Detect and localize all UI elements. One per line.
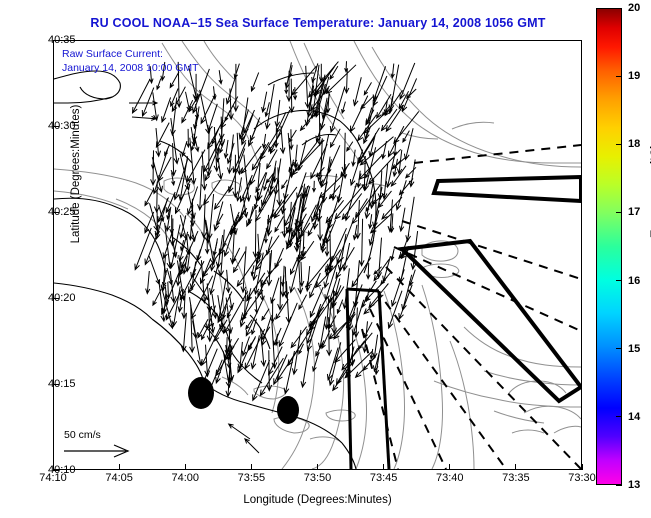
current-vector: [353, 77, 361, 105]
y-tick-mark: [53, 126, 59, 127]
current-vector: [132, 116, 156, 120]
station-marker[interactable]: [277, 396, 299, 424]
current-vector: [170, 72, 179, 88]
current-vector: [289, 130, 297, 142]
current-vector: [306, 257, 330, 287]
x-tick-mark: [582, 464, 583, 470]
y-tick-mark: [53, 470, 59, 471]
current-vector: [393, 157, 407, 169]
current-vector: [129, 101, 157, 105]
x-tick-label: 73:50: [304, 472, 332, 484]
x-tick-mark: [119, 464, 120, 470]
y-tick-mark: [53, 298, 59, 299]
x-tick-label: 74:05: [105, 472, 133, 484]
current-vector: [146, 271, 150, 294]
current-vector: [337, 300, 342, 314]
colorbar-tick-mark: [616, 280, 622, 281]
current-vector: [275, 216, 284, 231]
current-vector: [149, 66, 153, 83]
map-plot-area[interactable]: Raw Surface Current: January 14, 2008 10…: [53, 40, 582, 470]
current-vector: [229, 424, 250, 439]
colorbar-tick-mark: [616, 212, 622, 213]
colorbar-tick-mark: [616, 144, 622, 145]
current-vector: [301, 350, 309, 387]
x-tick-label: 73:35: [502, 472, 530, 484]
current-vector: [251, 319, 256, 334]
current-vector: [342, 133, 347, 173]
current-vector: [275, 100, 280, 127]
current-vector: [281, 266, 286, 297]
current-vector: [301, 115, 314, 130]
colorbar-tick-mark: [616, 416, 622, 417]
colorbar-tick-label: 20: [628, 2, 640, 14]
colorbar-tick-label: 15: [628, 343, 640, 355]
current-vector: [171, 118, 179, 164]
x-tick-label: 74:00: [171, 472, 199, 484]
current-vector: [334, 312, 355, 339]
current-vector: [305, 66, 310, 108]
colorbar-tick-mark: [616, 348, 622, 349]
current-vector: [182, 100, 193, 122]
current-vector: [356, 200, 361, 238]
current-vector: [251, 265, 254, 275]
current-vector: [261, 259, 282, 286]
current-vector: [161, 62, 165, 80]
current-vector: [249, 336, 256, 350]
current-vector: [337, 222, 353, 263]
current-vector: [246, 301, 262, 335]
current-vector: [248, 206, 253, 223]
current-vector: [364, 82, 371, 94]
current-vector: [154, 182, 159, 213]
current-vector: [373, 335, 378, 358]
current-vector: [262, 134, 265, 148]
current-vector: [276, 299, 289, 319]
x-tick-label: 73:55: [238, 472, 266, 484]
current-vector: [249, 121, 259, 146]
current-vector: [280, 126, 285, 153]
colorbar-tick-mark: [616, 485, 622, 486]
current-vector: [198, 166, 203, 210]
current-vector: [213, 86, 216, 99]
current-vector: [342, 102, 346, 113]
current-vector: [161, 286, 173, 329]
x-tick-mark: [383, 464, 384, 470]
current-vector: [322, 157, 330, 203]
current-vector: [350, 334, 355, 366]
x-tick-label: 73:45: [370, 472, 398, 484]
y-tick-mark: [53, 212, 59, 213]
colorbar-tick-label: 14: [628, 411, 640, 423]
current-vector: [135, 228, 151, 270]
current-vector: [224, 217, 238, 256]
current-vector: [245, 439, 259, 453]
current-vector: [259, 193, 270, 212]
current-vector: [404, 128, 413, 159]
current-vector: [313, 181, 316, 192]
temperature-colorbar[interactable]: [596, 8, 622, 485]
page-title: RU COOL NOAA–15 Sea Surface Temperature:…: [53, 16, 583, 30]
current-vector: [145, 189, 154, 206]
colorbar-tick-label: 13: [628, 479, 640, 491]
current-vector: [229, 89, 234, 120]
map-graphics: [54, 41, 581, 469]
current-vector: [396, 180, 406, 209]
sst-figure: RU COOL NOAA–15 Sea Surface Temperature:…: [0, 0, 651, 518]
current-vector: [215, 184, 233, 209]
current-vector: [392, 269, 405, 306]
current-vector: [149, 256, 160, 284]
current-vector: [319, 64, 323, 82]
current-vector: [310, 291, 337, 330]
current-vector: [159, 157, 172, 181]
y-axis-label: Latitude (Degrees:Minutes): [70, 84, 82, 264]
current-vector: [394, 111, 419, 143]
current-vector: [406, 197, 414, 241]
colorbar-tick-mark: [616, 8, 622, 9]
x-tick-label: 73:30: [568, 472, 596, 484]
current-vector: [369, 214, 372, 228]
colorbar-tick-label: 18: [628, 138, 640, 150]
station-marker[interactable]: [188, 377, 214, 409]
current-vector: [361, 96, 374, 109]
surface-current-vectors: [129, 61, 419, 453]
current-vector: [234, 64, 239, 78]
shipping-lanes: [402, 177, 581, 401]
current-vector: [351, 96, 368, 132]
colorbar-tick-label: 16: [628, 275, 640, 287]
current-vector: [219, 70, 222, 83]
current-vector: [350, 150, 362, 186]
x-axis-label: Longitude (Degrees:Minutes): [53, 494, 582, 506]
current-vector: [224, 140, 228, 158]
colorbar-tick-label: 17: [628, 206, 640, 218]
current-vector: [275, 248, 284, 268]
current-vector: [353, 225, 357, 240]
current-vector: [406, 167, 416, 177]
current-vector: [229, 347, 234, 380]
current-vector: [251, 73, 258, 92]
x-tick-mark: [317, 464, 318, 470]
current-vector: [399, 285, 412, 319]
current-vector: [193, 69, 210, 113]
current-vector: [329, 342, 341, 385]
current-vector: [251, 335, 259, 368]
current-vector: [227, 303, 234, 318]
x-tick-mark: [449, 464, 450, 470]
current-vector: [358, 341, 365, 349]
current-vector: [153, 92, 159, 120]
x-tick-mark: [251, 464, 252, 470]
current-vector: [234, 251, 246, 272]
current-vector: [205, 345, 210, 377]
current-vector: [400, 208, 406, 231]
current-vector: [253, 210, 258, 257]
y-tick-mark: [53, 384, 59, 385]
current-vector: [142, 88, 154, 116]
current-vector: [403, 131, 410, 142]
x-tick-mark: [185, 464, 186, 470]
x-tick-label: 73:40: [436, 472, 464, 484]
current-vector: [212, 294, 217, 318]
x-tick-mark: [515, 464, 516, 470]
current-vector: [262, 309, 269, 320]
current-vector: [157, 79, 161, 90]
current-vector: [271, 278, 279, 303]
y-tick-mark: [53, 40, 59, 41]
current-vector: [213, 242, 217, 256]
current-vector: [265, 84, 274, 129]
current-vector: [151, 155, 154, 169]
current-vector: [277, 167, 282, 205]
station-markers: [188, 377, 299, 424]
current-vector: [331, 174, 336, 200]
current-vector: [391, 249, 394, 260]
current-vector: [359, 219, 364, 266]
colorbar-tick-label: 19: [628, 70, 640, 82]
current-vector: [300, 262, 304, 286]
current-vector: [162, 97, 171, 122]
current-vector: [330, 87, 345, 132]
current-vector: [241, 290, 263, 320]
current-vector: [391, 64, 394, 78]
current-vector: [374, 267, 382, 274]
colorbar-tick-mark: [616, 76, 622, 77]
current-vector: [133, 80, 150, 113]
current-vector: [238, 342, 243, 369]
current-vector: [262, 92, 267, 112]
